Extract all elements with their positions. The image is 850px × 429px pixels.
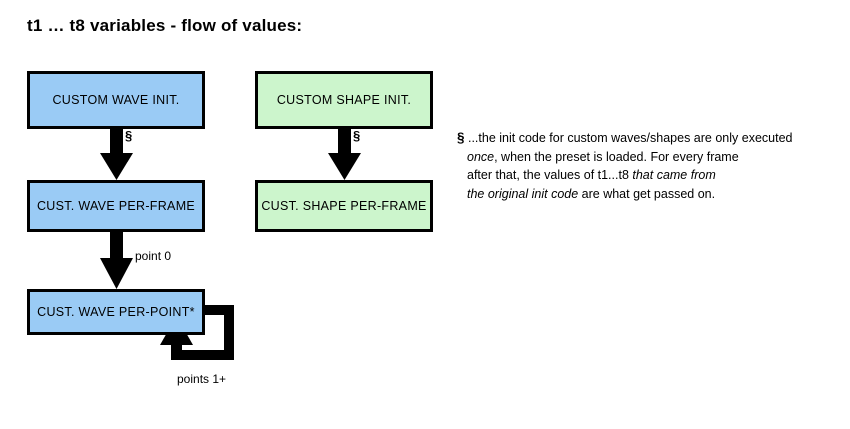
footnote-line-2-text: , when the preset is loaded. For every f… [494, 150, 739, 164]
arrow-label-point-0: point 0 [135, 249, 171, 263]
box-custom-shape-init[interactable]: CUSTOM SHAPE INIT. [255, 71, 433, 129]
footnote-line-2: once, when the preset is loaded. For eve… [457, 148, 832, 167]
diagram-canvas: t1 … t8 variables - flow of values: [0, 0, 850, 429]
footnote-line-3-italic: that came from [632, 168, 715, 182]
footnote-line-3: after that, the values of t1...t8 that c… [457, 166, 832, 185]
arrow-label-points-1-plus: points 1+ [177, 372, 226, 386]
box-custom-wave-init[interactable]: CUSTOM WAVE INIT. [27, 71, 205, 129]
footnote-line-3-text: after that, the values of t1...t8 [467, 168, 632, 182]
box-cust-shape-per-frame-label: CUST. SHAPE PER-FRAME [261, 199, 426, 213]
box-custom-shape-init-label: CUSTOM SHAPE INIT. [277, 93, 411, 107]
box-cust-wave-per-frame[interactable]: CUST. WAVE PER-FRAME [27, 180, 205, 232]
box-custom-wave-init-label: CUSTOM WAVE INIT. [52, 93, 179, 107]
page-title: t1 … t8 variables - flow of values: [27, 16, 302, 36]
footnote-line-4: the original init code are what get pass… [457, 185, 832, 204]
footnote-line-4-text: are what get passed on. [578, 187, 715, 201]
footnote-annotation: § ...the init code for custom waves/shap… [457, 129, 832, 203]
box-cust-wave-per-point[interactable]: CUST. WAVE PER-POINT* [27, 289, 205, 335]
footnote-line-4-italic: the original init code [467, 187, 578, 201]
arrow-per-frame-to-per-point [100, 232, 133, 289]
footnote-line-1: § ...the init code for custom waves/shap… [457, 129, 832, 148]
arrow-label-shape-init-section-mark: § [353, 128, 360, 143]
box-cust-wave-per-frame-label: CUST. WAVE PER-FRAME [37, 199, 195, 213]
footnote-line-1-text: ...the init code for custom waves/shapes… [465, 131, 793, 145]
footnote-section-mark: § [457, 130, 465, 145]
box-cust-wave-per-point-label: CUST. WAVE PER-POINT* [37, 305, 195, 319]
footnote-line-2-italic: once [467, 150, 494, 164]
arrow-label-wave-init-section-mark: § [125, 128, 132, 143]
box-cust-shape-per-frame[interactable]: CUST. SHAPE PER-FRAME [255, 180, 433, 232]
